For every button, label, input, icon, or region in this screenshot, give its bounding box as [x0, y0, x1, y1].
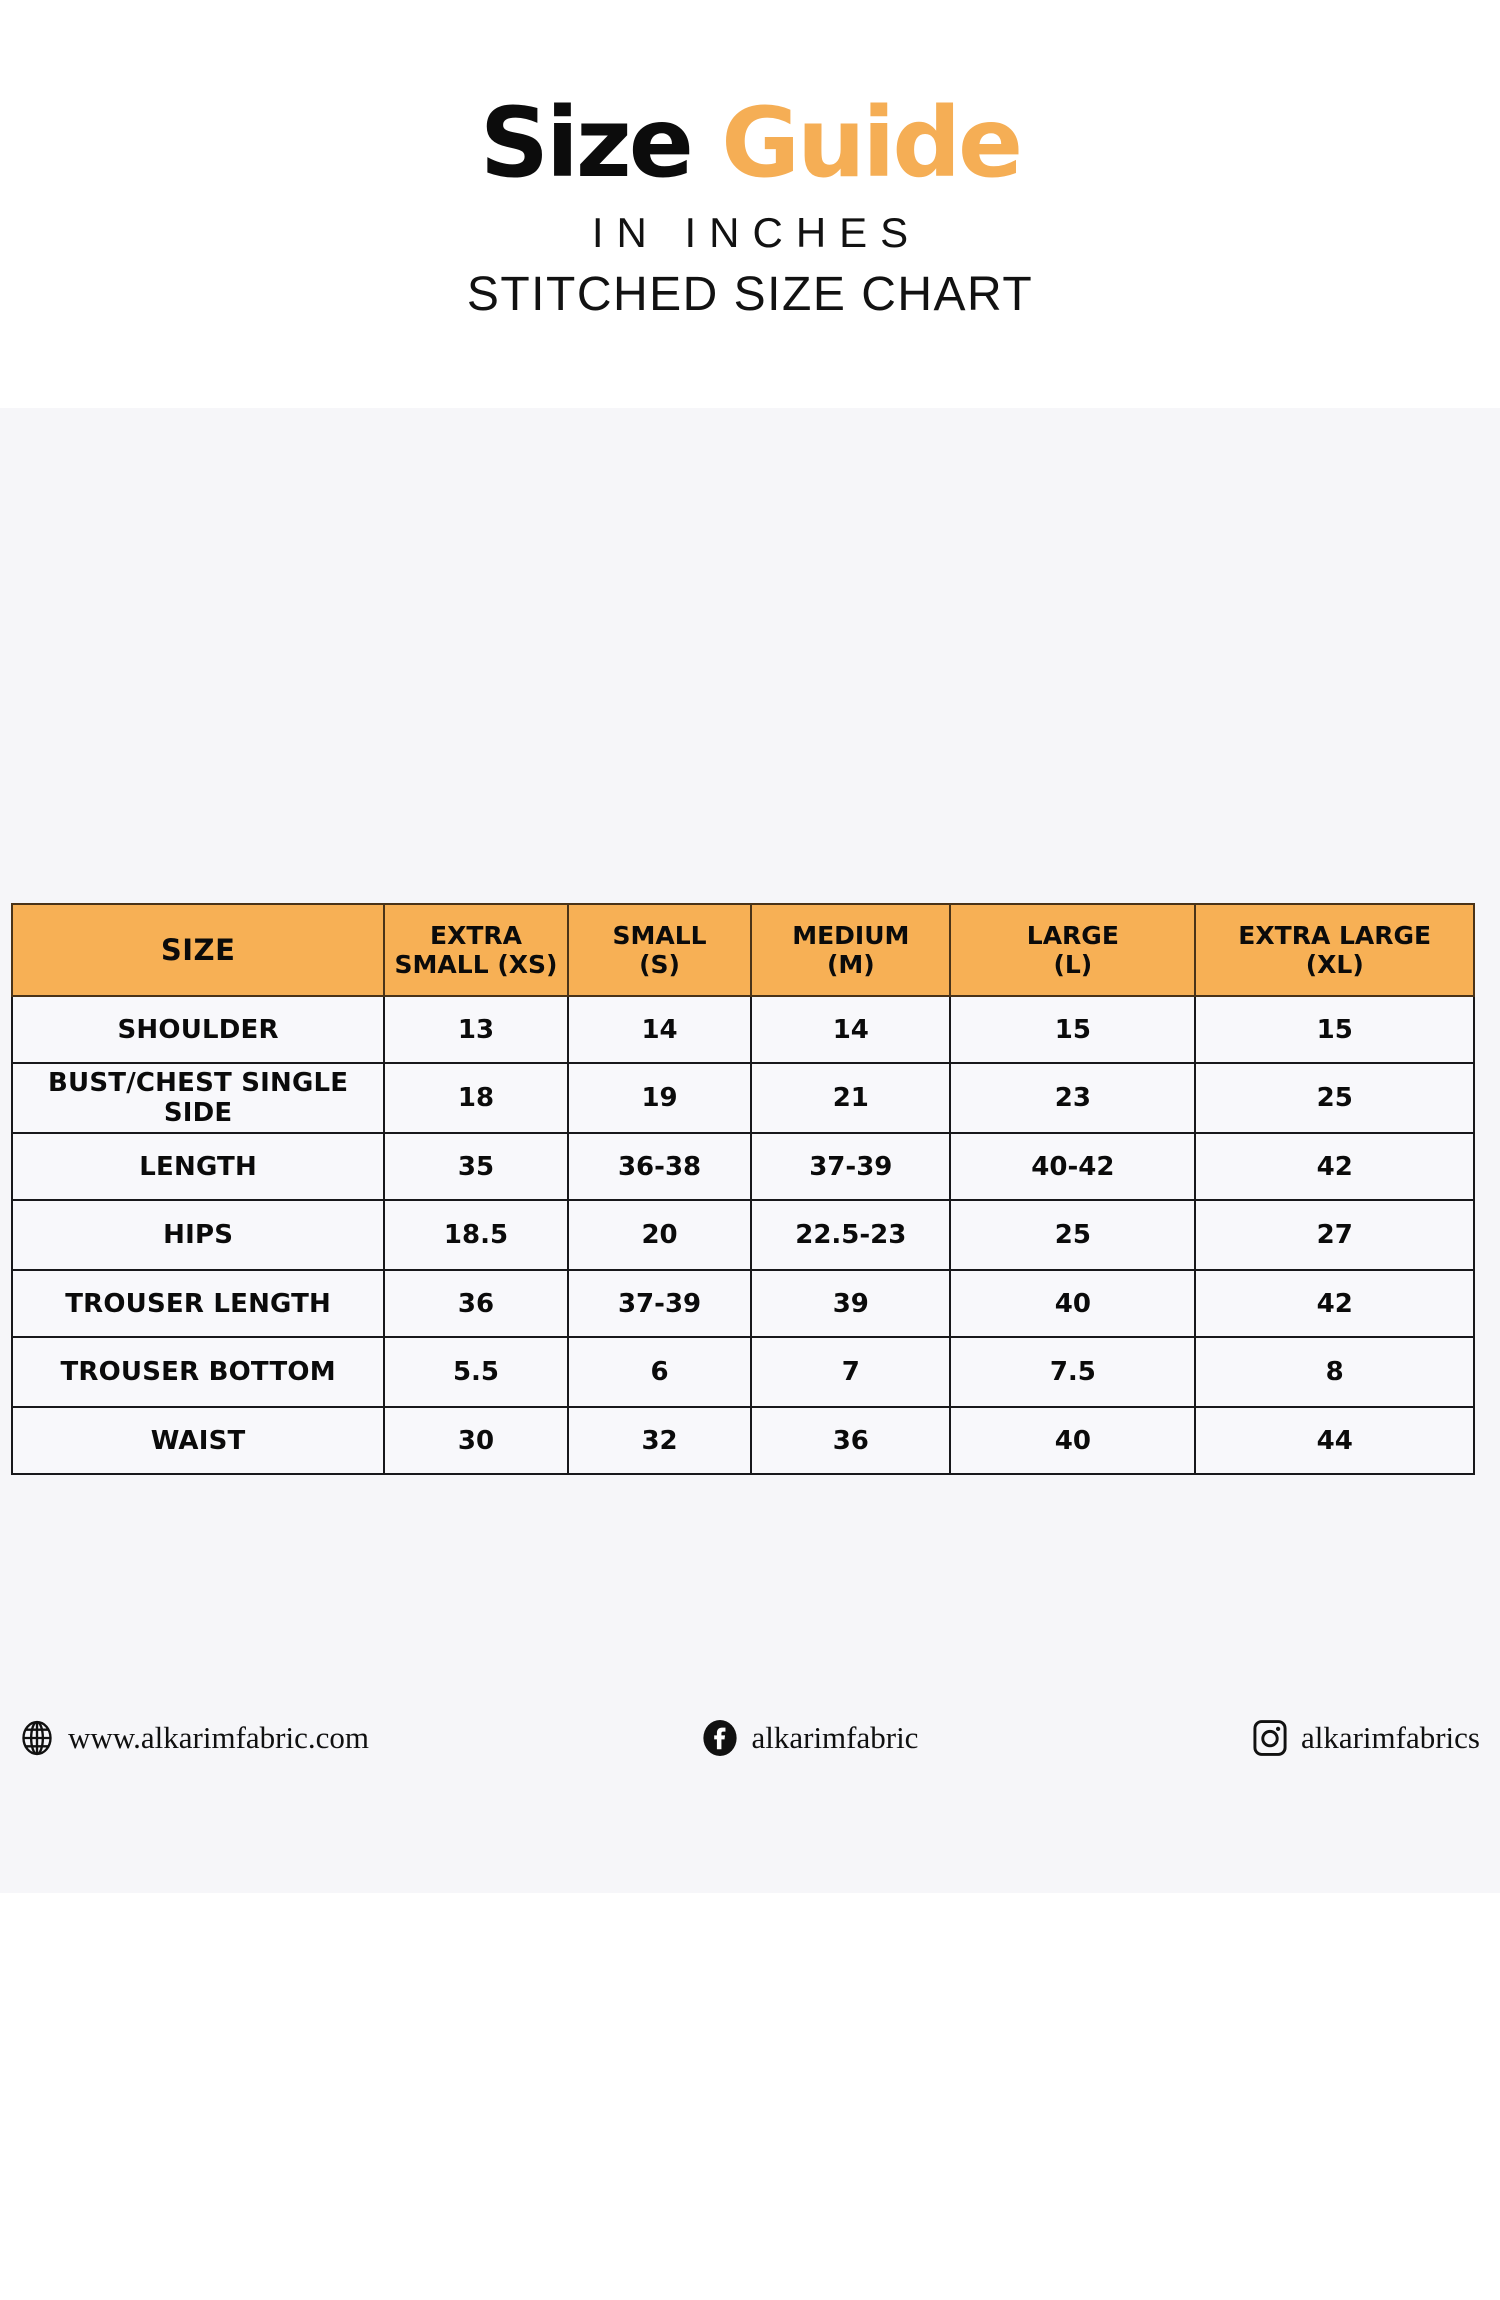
cell-value: 30 — [384, 1407, 568, 1474]
column-header-xs-line2: SMALL (XS) — [395, 950, 558, 979]
column-header-m-line2: (M) — [827, 950, 875, 979]
footer-instagram-label: alkarimfabrics — [1301, 1720, 1480, 1756]
subtitle-units: IN INCHES — [0, 209, 1500, 257]
cell-value: 5.5 — [384, 1337, 568, 1407]
column-header-s-line1: SMALL — [613, 921, 707, 950]
cell-value: 23 — [950, 1063, 1195, 1133]
footer: www.alkarimfabric.com alkarimfabric alka… — [14, 1708, 1486, 1768]
row-label: SHOULDER — [12, 996, 384, 1063]
footer-facebook-label: alkarimfabric — [751, 1720, 918, 1756]
cell-value: 14 — [568, 996, 752, 1063]
column-header-size-label: SIZE — [161, 933, 236, 967]
table-row: TROUSER LENGTH 36 37-39 39 40 42 — [12, 1270, 1474, 1337]
column-header-l-line1: LARGE — [1027, 921, 1119, 950]
page-title-guide: Guide — [721, 87, 1020, 199]
table-row: LENGTH 35 36-38 37-39 40-42 42 — [12, 1133, 1474, 1200]
cell-value: 27 — [1195, 1200, 1474, 1270]
page-title: Size Guide — [0, 95, 1500, 191]
globe-icon — [16, 1717, 58, 1759]
cell-value: 15 — [1195, 996, 1474, 1063]
cell-value: 39 — [751, 1270, 950, 1337]
row-label: LENGTH — [12, 1133, 384, 1200]
cell-value: 37-39 — [568, 1270, 752, 1337]
size-chart-table: SIZE EXTRA SMALL (XS) SMALL (S) MEDIUM (… — [11, 903, 1475, 1475]
title-block: Size Guide IN INCHES STITCHED SIZE CHART — [0, 95, 1500, 322]
table-header-row: SIZE EXTRA SMALL (XS) SMALL (S) MEDIUM (… — [12, 904, 1474, 996]
size-guide-page: Size Guide IN INCHES STITCHED SIZE CHART… — [0, 0, 1500, 2300]
table-row: SHOULDER 13 14 14 15 15 — [12, 996, 1474, 1063]
cell-value: 37-39 — [751, 1133, 950, 1200]
table-row: HIPS 18.5 20 22.5-23 25 27 — [12, 1200, 1474, 1270]
column-header-m: MEDIUM (M) — [751, 904, 950, 996]
row-label: TROUSER BOTTOM — [12, 1337, 384, 1407]
row-label: BUST/CHEST SINGLE SIDE — [12, 1063, 384, 1133]
footer-facebook[interactable]: alkarimfabric — [699, 1717, 918, 1759]
footer-website-label: www.alkarimfabric.com — [68, 1720, 369, 1756]
column-header-s-line2: (S) — [639, 950, 680, 979]
row-label: WAIST — [12, 1407, 384, 1474]
cell-value: 6 — [568, 1337, 752, 1407]
column-header-xl-line2: (XL) — [1306, 950, 1364, 979]
column-header-size: SIZE — [12, 904, 384, 996]
page-title-size: Size — [480, 87, 691, 199]
cell-value: 15 — [950, 996, 1195, 1063]
cell-value: 7 — [751, 1337, 950, 1407]
cell-value: 25 — [950, 1200, 1195, 1270]
cell-value: 7.5 — [950, 1337, 1195, 1407]
footer-website[interactable]: www.alkarimfabric.com — [16, 1717, 369, 1759]
cell-value: 36-38 — [568, 1133, 752, 1200]
table-row: BUST/CHEST SINGLE SIDE 18 19 21 23 25 — [12, 1063, 1474, 1133]
facebook-icon — [699, 1717, 741, 1759]
footer-instagram[interactable]: alkarimfabrics — [1249, 1717, 1480, 1759]
cell-value: 40-42 — [950, 1133, 1195, 1200]
cell-value: 21 — [751, 1063, 950, 1133]
subtitle-chart: STITCHED SIZE CHART — [0, 267, 1500, 322]
column-header-xl: EXTRA LARGE (XL) — [1195, 904, 1474, 996]
cell-value: 18 — [384, 1063, 568, 1133]
column-header-m-line1: MEDIUM — [792, 921, 909, 950]
table-row: WAIST 30 32 36 40 44 — [12, 1407, 1474, 1474]
cell-value: 42 — [1195, 1270, 1474, 1337]
column-header-l: LARGE (L) — [950, 904, 1195, 996]
cell-value: 13 — [384, 996, 568, 1063]
column-header-xl-line1: EXTRA LARGE — [1238, 921, 1431, 950]
cell-value: 44 — [1195, 1407, 1474, 1474]
cell-value: 22.5-23 — [751, 1200, 950, 1270]
cell-value: 36 — [384, 1270, 568, 1337]
cell-value: 35 — [384, 1133, 568, 1200]
row-label: HIPS — [12, 1200, 384, 1270]
cell-value: 42 — [1195, 1133, 1474, 1200]
cell-value: 40 — [950, 1270, 1195, 1337]
row-label: TROUSER LENGTH — [12, 1270, 384, 1337]
cell-value: 20 — [568, 1200, 752, 1270]
column-header-s: SMALL (S) — [568, 904, 752, 996]
cell-value: 36 — [751, 1407, 950, 1474]
cell-value: 19 — [568, 1063, 752, 1133]
cell-value: 8 — [1195, 1337, 1474, 1407]
cell-value: 25 — [1195, 1063, 1474, 1133]
instagram-icon — [1249, 1717, 1291, 1759]
column-header-xs: EXTRA SMALL (XS) — [384, 904, 568, 996]
cell-value: 32 — [568, 1407, 752, 1474]
cell-value: 18.5 — [384, 1200, 568, 1270]
table-row: TROUSER BOTTOM 5.5 6 7 7.5 8 — [12, 1337, 1474, 1407]
cell-value: 14 — [751, 996, 950, 1063]
cell-value: 40 — [950, 1407, 1195, 1474]
column-header-l-line2: (L) — [1053, 950, 1092, 979]
column-header-xs-line1: EXTRA — [430, 921, 522, 950]
